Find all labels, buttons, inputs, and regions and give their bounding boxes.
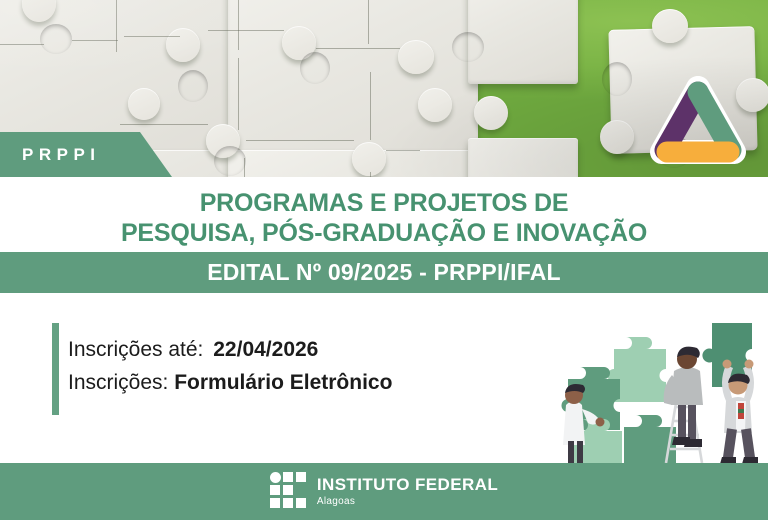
registration-label: Inscrições: bbox=[68, 371, 168, 394]
edital-label: EDITAL Nº 09/2025 - PRPPI/IFAL bbox=[207, 259, 561, 286]
title-line-1: PROGRAMAS E PROJETOS DE bbox=[200, 188, 569, 218]
page-title: PROGRAMAS E PROJETOS DE PESQUISA, PÓS-GR… bbox=[0, 177, 768, 252]
puzzle-teamwork-illustration bbox=[538, 309, 768, 463]
deadline-label: Inscrições até: bbox=[68, 338, 203, 361]
footer-band: INSTITUTO FEDERAL Alagoas bbox=[0, 463, 768, 520]
info-lines: Inscrições até: 22/04/2026 Inscrições: F… bbox=[68, 333, 392, 399]
instituto-federal-wordmark: INSTITUTO FEDERAL Alagoas bbox=[317, 476, 498, 507]
accent-bar bbox=[52, 323, 59, 415]
info-row-registration: Inscrições: Formulário Eletrônico bbox=[68, 366, 392, 399]
title-line-2: PESQUISA, PÓS-GRADUAÇÃO E INOVAÇÃO bbox=[121, 218, 647, 248]
deadline-value: 22/04/2026 bbox=[213, 338, 318, 361]
prppi-tab-label: PRPPI bbox=[22, 145, 101, 165]
edital-band: EDITAL Nº 09/2025 - PRPPI/IFAL bbox=[0, 252, 768, 293]
edital-poster: PRPPI PROGRAMAS E PROJETOS DE PESQUISA, … bbox=[0, 0, 768, 520]
registration-value[interactable]: Formulário Eletrônico bbox=[174, 371, 392, 394]
info-section: Inscrições até: 22/04/2026 Inscrições: F… bbox=[0, 293, 768, 463]
info-row-deadline: Inscrições até: 22/04/2026 bbox=[68, 333, 392, 366]
institution-name: INSTITUTO FEDERAL bbox=[317, 476, 498, 493]
campus-name: Alagoas bbox=[317, 497, 498, 507]
instituto-federal-grid-logo-icon bbox=[270, 472, 306, 512]
ifal-triangle-a-logo-icon bbox=[636, 64, 760, 177]
instituto-federal-logo: INSTITUTO FEDERAL Alagoas bbox=[270, 472, 498, 512]
